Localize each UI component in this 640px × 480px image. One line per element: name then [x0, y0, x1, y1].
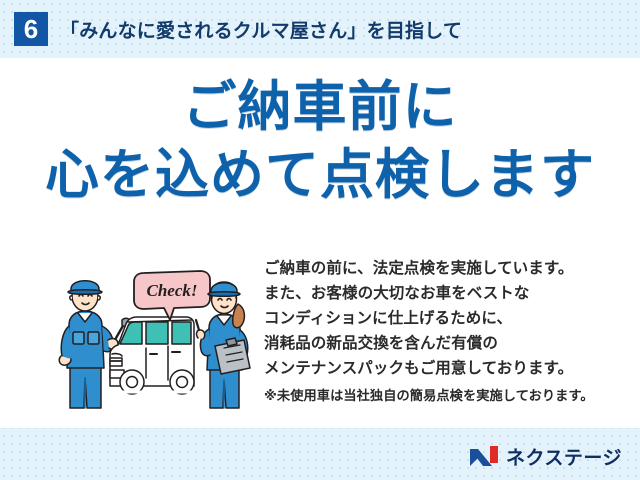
step-number-badge: 6 [14, 12, 48, 46]
body-copy-note: ※未使用車は当社独自の簡易点検を実施しております。 [264, 385, 628, 406]
header-title: 「みんなに愛されるクルマ屋さん」を目指して [60, 16, 462, 43]
promo-banner: 6 「みんなに愛されるクルマ屋さん」を目指して ご納車前に 心を込めて点検します [0, 0, 640, 480]
body-copy: ご納車の前に、法定点検を実施しています。 また、お客様の大切なお車をベストな コ… [264, 256, 628, 406]
body-copy-line-2: また、お客様の大切なお車をベストな [264, 281, 628, 306]
body-copy-line-3: コンディションに仕上げるために、 [264, 306, 628, 331]
body-copy-line-5: メンテナンスパックもご用意しております。 [264, 356, 628, 381]
headline-line-1: ご納車前に [0, 80, 640, 134]
headline: ご納車前に 心を込めて点検します [0, 80, 640, 202]
speech-bubble-label: Check! [147, 281, 198, 300]
banner-header: 6 「みんなに愛されるクルマ屋さん」を目指して [0, 0, 640, 58]
mechanics-illustration: Check! [58, 258, 263, 413]
body-copy-line-1: ご納車の前に、法定点検を実施しています。 [264, 256, 628, 281]
content-panel: ご納車前に 心を込めて点検します [0, 58, 640, 428]
nexstage-n-logo-icon [469, 445, 499, 467]
headline-line-2: 心を込めて点検します [0, 148, 640, 202]
brand-logo: ネクステージ [469, 444, 622, 468]
body-copy-line-4: 消耗品の新品交換を含んだ有償の [264, 331, 628, 356]
brand-name: ネクステージ [506, 443, 622, 470]
